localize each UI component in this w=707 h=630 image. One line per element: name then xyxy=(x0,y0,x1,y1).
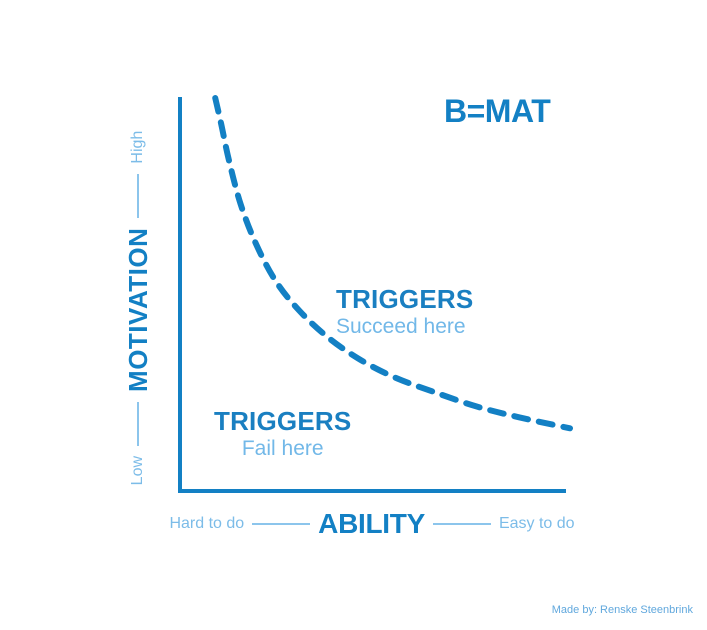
zone-succeed-subtitle: Succeed here xyxy=(336,315,473,339)
x-axis-right-rule xyxy=(433,523,491,525)
y-axis-high-label: High xyxy=(129,131,147,164)
x-axis-label-group: Hard to do ABILITY Easy to do xyxy=(170,508,574,540)
x-axis-title: ABILITY xyxy=(318,508,425,540)
zone-label-fail: TRIGGERS Fail here xyxy=(214,408,351,461)
bmat-diagram: B=MAT TRIGGERS Succeed here TRIGGERS Fai… xyxy=(0,0,707,630)
zone-label-succeed: TRIGGERS Succeed here xyxy=(336,286,473,339)
zone-fail-subtitle: Fail here xyxy=(214,437,351,461)
y-axis-label-group: Low MOTIVATION High xyxy=(123,108,153,508)
y-axis-title: MOTIVATION xyxy=(123,228,154,392)
credit-text: Made by: Renske Steenbrink xyxy=(552,604,693,616)
y-axis-high-rule xyxy=(137,174,139,218)
y-axis-low-label: Low xyxy=(129,456,147,485)
x-axis-low-label: Hard to do xyxy=(169,515,244,533)
x-axis-high-label: Easy to do xyxy=(499,515,575,533)
zone-fail-heading: TRIGGERS xyxy=(214,408,351,435)
zone-succeed-heading: TRIGGERS xyxy=(336,286,473,313)
x-axis-left-rule xyxy=(252,523,310,525)
y-axis-low-rule xyxy=(137,402,139,446)
activation-threshold-path xyxy=(215,98,570,428)
